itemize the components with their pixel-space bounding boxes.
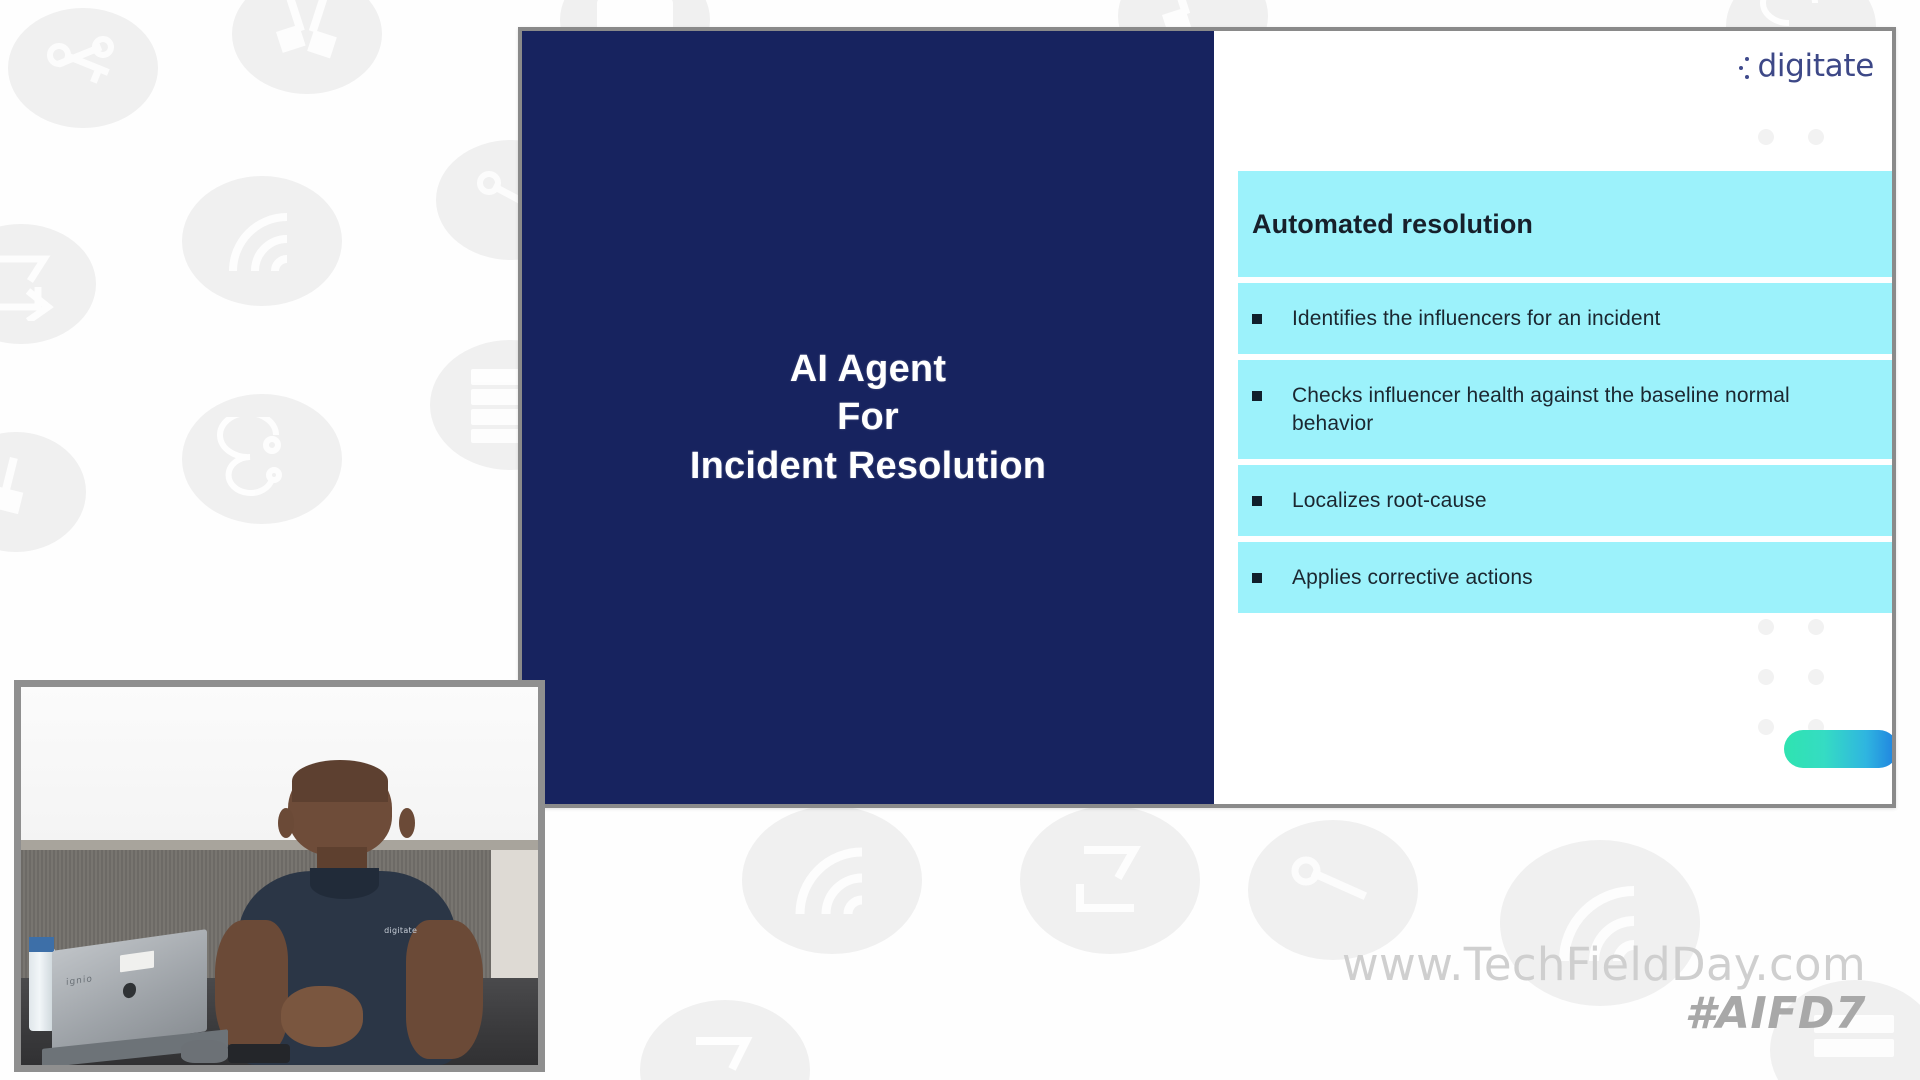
- server-rack-icon: [1770, 980, 1920, 1080]
- bullet-item-1: Identifies the influencers for an incide…: [1238, 283, 1892, 354]
- presenter-ear-right: [399, 808, 415, 838]
- slide-title-line-1: AI Agent: [690, 345, 1046, 393]
- video-frame-content: digitate ignio: [21, 687, 538, 1065]
- slide-title-line-3: Incident Resolution: [690, 442, 1046, 490]
- laptop-asset-label: [120, 951, 154, 972]
- brackets-icon: [1020, 806, 1200, 954]
- section-header-label: Automated resolution: [1252, 209, 1533, 240]
- bullet-square-icon: [1252, 496, 1262, 506]
- bullet-item-3: Localizes root-cause: [1238, 465, 1892, 536]
- gradient-accent-pill: [1784, 730, 1896, 768]
- section-header-box: Automated resolution: [1238, 171, 1892, 277]
- slide-content-panel: digitate Automated resolution Identifies…: [1214, 31, 1892, 804]
- slide-title: AI Agent For Incident Resolution: [690, 345, 1046, 490]
- brackets-icon: [0, 224, 96, 344]
- presenter-hands: [281, 986, 363, 1046]
- bullet-text: Checks influencer health against the bas…: [1292, 382, 1852, 437]
- screen: AI Agent For Incident Resolution digitat…: [0, 0, 1920, 1080]
- presentation-slide[interactable]: AI Agent For Incident Resolution digitat…: [518, 27, 1896, 808]
- slide-title-line-2: For: [690, 393, 1046, 441]
- slide-title-panel: AI Agent For Incident Resolution: [522, 31, 1214, 804]
- spiral-icon: [182, 394, 342, 524]
- bullet-square-icon: [1252, 391, 1262, 401]
- shovel-icon: [232, 0, 382, 94]
- brackets-icon: [640, 1000, 810, 1080]
- key-icon: [1248, 820, 1418, 960]
- brand-name: digitate: [1757, 51, 1874, 82]
- bullet-text: Identifies the influencers for an incide…: [1292, 305, 1660, 332]
- shirt-logo-text: digitate: [384, 926, 417, 935]
- key-icon: [8, 8, 158, 128]
- bullet-text: Localizes root-cause: [1292, 487, 1487, 514]
- content-boxes: Automated resolution Identifies the infl…: [1238, 171, 1892, 619]
- wifi-icon: [1500, 840, 1700, 1006]
- digitate-logo: digitate: [1739, 51, 1874, 82]
- water-bottle: [29, 948, 55, 1031]
- presentation-remote: [228, 1044, 290, 1063]
- presenter-hair: [292, 760, 388, 802]
- presenter-collar: [310, 868, 378, 898]
- presenter: digitate: [233, 763, 460, 1065]
- bullet-square-icon: [1252, 573, 1262, 583]
- wifi-icon: [182, 176, 342, 306]
- bullet-item-2: Checks influencer health against the bas…: [1238, 360, 1892, 459]
- presenter-arm-right: [406, 920, 483, 1059]
- mouse: [181, 1040, 228, 1063]
- apple-logo-icon: [123, 982, 136, 999]
- water-bottle-label: [29, 937, 53, 952]
- bullet-item-4: Applies corrective actions: [1238, 542, 1892, 613]
- laptop-sticker-text: ignio: [66, 974, 93, 988]
- bullet-text: Applies corrective actions: [1292, 564, 1533, 591]
- bullet-square-icon: [1252, 314, 1262, 324]
- shovel-icon: [0, 432, 86, 552]
- logo-dots-icon: [1739, 52, 1752, 82]
- wifi-icon: [742, 806, 922, 954]
- presenter-video-feed[interactable]: digitate ignio: [14, 680, 545, 1072]
